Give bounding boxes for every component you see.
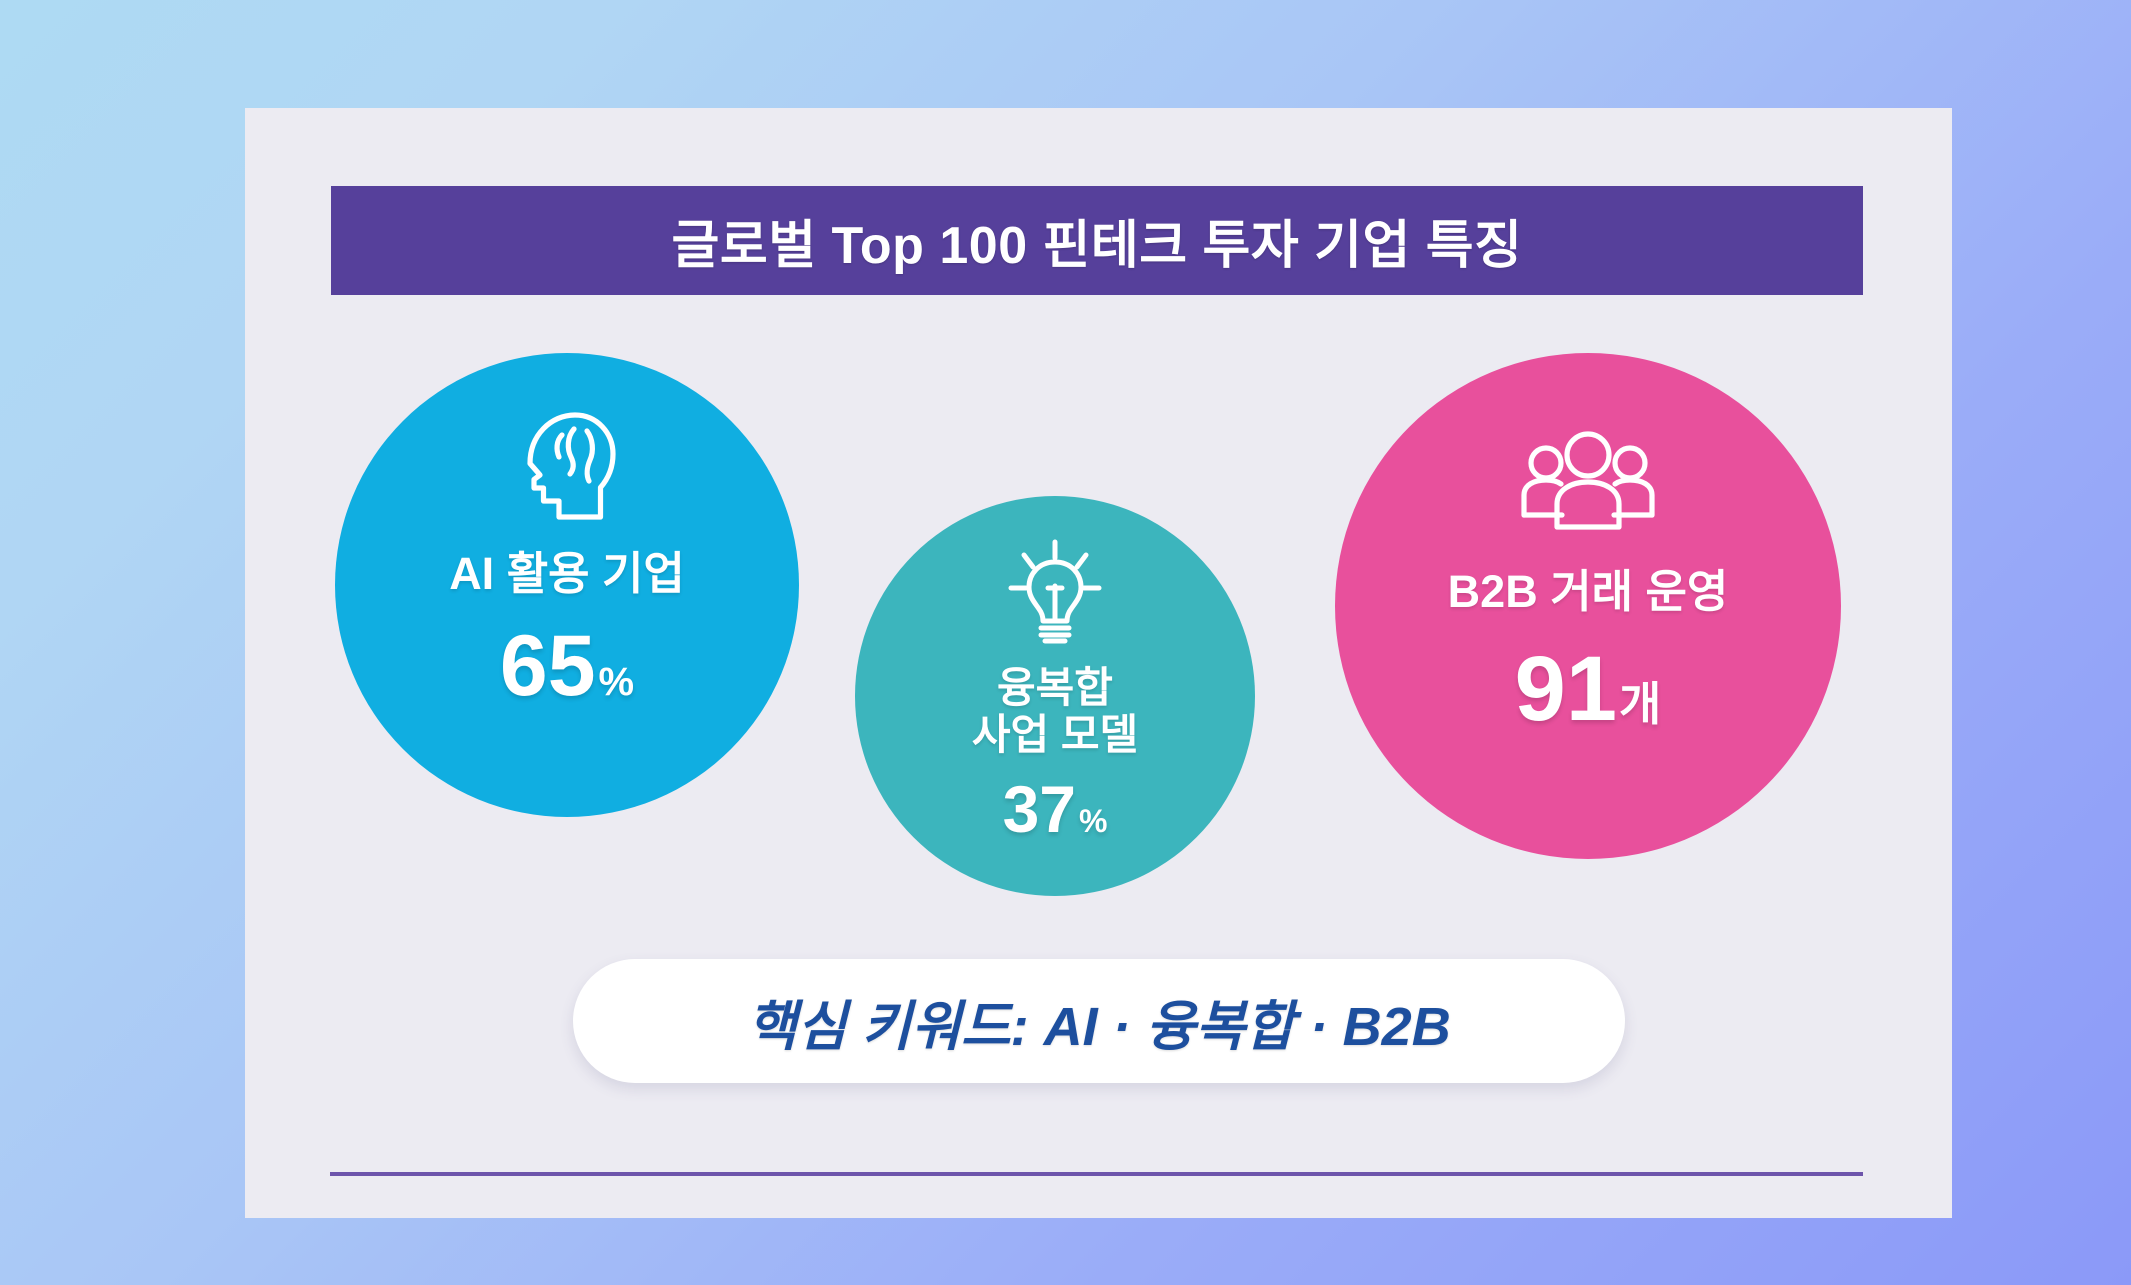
metric-circle-b2b: B2B 거래 운영 91 개	[1335, 353, 1841, 859]
metric-circle-ai: AI 활용 기업 65 %	[335, 353, 799, 817]
metric-label-line: 융복합	[972, 664, 1138, 711]
metric-number: 91	[1515, 643, 1617, 735]
metric-label-line: AI 활용 기업	[449, 549, 685, 599]
metric-label-convergence: 융복합 사업 모델	[972, 664, 1138, 758]
metric-label-line: B2B 거래 운영	[1448, 567, 1729, 617]
metric-value-b2b: 91 개	[1515, 643, 1662, 735]
head-brain-icon	[507, 405, 627, 523]
metric-number: 37	[1003, 776, 1076, 842]
infographic-card: 글로벌 Top 100 핀테크 투자 기업 특징 AI 활용 기업 65 %	[245, 108, 1952, 1218]
footer-divider	[330, 1172, 1863, 1176]
keyword-badge: 핵심 키워드: AI · 융복합 · B2B	[573, 959, 1625, 1083]
metric-unit: %	[1079, 805, 1107, 837]
lightbulb-icon	[1003, 538, 1107, 644]
metric-label-line: 사업 모델	[972, 711, 1138, 758]
page-title: 글로벌 Top 100 핀테크 투자 기업 특징	[672, 203, 1523, 278]
metric-value-convergence: 37 %	[1003, 776, 1108, 842]
page-title-bar: 글로벌 Top 100 핀테크 투자 기업 특징	[331, 186, 1863, 295]
keyword-text: 핵심 키워드: AI · 융복합 · B2B	[747, 982, 1450, 1061]
metric-label-b2b: B2B 거래 운영	[1448, 567, 1729, 617]
metric-number: 65	[500, 623, 596, 709]
metric-value-ai: 65 %	[500, 623, 634, 709]
people-group-icon	[1518, 427, 1658, 531]
metric-label-ai: AI 활용 기업	[449, 549, 685, 599]
metric-unit: %	[599, 662, 635, 702]
metric-circle-convergence: 융복합 사업 모델 37 %	[855, 496, 1255, 896]
metric-unit: 개	[1619, 681, 1661, 727]
